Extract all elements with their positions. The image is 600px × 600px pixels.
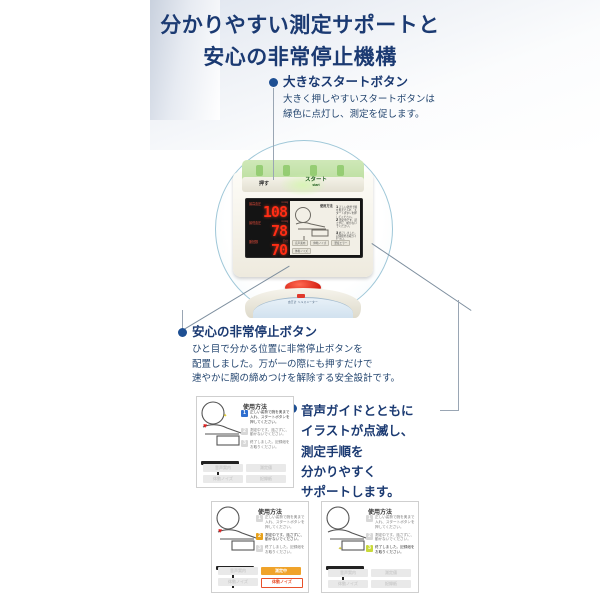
panel-step: 1 正しい姿勢で腕を奥まで入れ、スタートボタンを押してください。 <box>366 515 416 530</box>
step-text: 終了しました。記録紙をお取りください。 <box>375 545 416 555</box>
step-badge: 3 <box>366 545 373 552</box>
lcd-step-2: 2 測定中です。話さずに、動かないでください。 <box>336 217 358 229</box>
panel-chips: 音声案内 測定値 体動ノイズ 記録紙 <box>203 464 289 483</box>
panel-step: 3 終了しました。記録紙をお取りください。 <box>366 545 416 555</box>
step-badge: 2 <box>241 428 248 435</box>
panel-chip: 音声案内 <box>328 569 368 577</box>
panel-chip: 体動ノイズ <box>328 580 368 588</box>
reading-label: 最高血圧 <box>249 201 261 206</box>
lcd-chip: 体動ノイズ <box>292 248 311 254</box>
lcd-status-chips: 音声案内 体動ノイズ 濃度エラー 体動ノイズ <box>292 240 360 254</box>
lcd-chip: 濃度エラー <box>331 240 350 246</box>
callout-dot-emergency-stop <box>178 328 187 337</box>
panel-step: 3 終了しました。記録紙をお取りください。 <box>241 440 291 450</box>
callout-body-line: 音声ガイドとともに <box>301 401 511 421</box>
start-button[interactable]: スタート start <box>305 178 327 187</box>
panel-chip: 音声案内 <box>218 567 258 575</box>
panel-chips: 音声案内 測定中 体動ノイズ 体動ノイズ <box>218 567 304 588</box>
panel-step: 1 正しい姿勢で腕を奥まで入れ、スタートボタンを押してください。 <box>241 410 291 425</box>
panel-step: 2 測定中です。話さずに、動かないでください。 <box>241 428 291 438</box>
step-text: 測定中です。話さずに、動かないでください。 <box>336 219 357 228</box>
step-badge: 1 <box>241 410 248 417</box>
lcd-readings: 最高血圧 mmHg 108 最低血圧 mmHg 78 脈拍数 回/分 70 <box>246 199 290 257</box>
panel-chip: 体動ノイズ <box>261 578 303 588</box>
step-text: 正しい姿勢で腕を奥まで入れ、スタートボタンを押してください。 <box>265 515 306 530</box>
panel-steps: 1 正しい姿勢で腕を奥まで入れ、スタートボタンを押してください。 2 測定中です… <box>366 515 416 558</box>
callout-body-line: 配置しました。万が一の際にも押すだけで <box>192 358 522 373</box>
panel-step: 2 測定中です。話さずに、動かないでください。 <box>366 533 416 543</box>
step-text: 測定中です。話さずに、動かないでください。 <box>250 428 291 438</box>
step-text: 終了しました。記録紙をお取りください。 <box>265 545 306 555</box>
callout-body-line: 緑色に点灯し、測定を促します。 <box>283 108 533 123</box>
blood-pressure-monitor: 押す スタート start 最高血圧 mmHg 108 最低血圧 mmHg 78… <box>233 160 373 290</box>
pulse-value: 70 <box>249 243 287 258</box>
callout-dot-start-button <box>269 78 278 87</box>
step-text: 終了しました。記録紙をお取りください。 <box>250 440 291 450</box>
indicator-lamp-icon <box>283 165 290 176</box>
sparkle-icon: ✦ <box>338 546 342 552</box>
panel-chip: 測定中 <box>261 567 301 575</box>
panel-steps: 1 正しい姿勢で腕を奥まで入れ、スタートボタンを押してください。 2 測定中です… <box>241 410 291 453</box>
press-label: 押す <box>259 180 269 187</box>
callout-body-line: 測定手順を <box>301 442 511 462</box>
panel-step: 2 測定中です。話さずに、動かないでください。 <box>256 533 306 543</box>
step-badge: 1 <box>256 515 263 522</box>
panel-chip: 体動ノイズ <box>218 578 258 586</box>
step-badge: 3 <box>241 440 248 447</box>
reading-label: 最低血圧 <box>249 220 261 225</box>
callout-connector-line-voice <box>371 243 471 311</box>
panel-chip: 記録紙 <box>371 580 411 588</box>
panel-chip: 体動ノイズ <box>203 475 243 483</box>
page-title: 分かりやすい測定サポートと 安心の非常停止機構 <box>0 10 600 73</box>
callout-body-line: サポートします。 <box>301 482 511 502</box>
callout-body-line: ひと目で分かる位置に非常停止ボタンを <box>192 343 522 358</box>
start-button-label-en: start <box>305 184 327 188</box>
page-title-line2: 安心の非常停止機構 <box>0 42 600 74</box>
panel-chip: 記録紙 <box>246 475 286 483</box>
lcd-chip: 体動ノイズ <box>310 240 329 246</box>
lcd-guide-area: 使用方法 1 正しい姿勢で腕を奥まで入れ、スタートボタンを押してください。 <box>290 201 360 255</box>
page-title-line1: 分かりやすい測定サポートと <box>160 14 440 37</box>
callout-body: 大きく押しやすいスタートボタンは 緑色に点灯し、測定を促します。 <box>283 93 533 122</box>
panel-step: 1 正しい姿勢で腕を奥まで入れ、スタートボタンを押してください。 <box>256 515 306 530</box>
callout-body-line: 分かりやすく <box>301 462 511 482</box>
poster-canvas: 分かりやすい測定サポートと 安心の非常停止機構 押す スタート start 最高… <box>0 0 600 600</box>
callout-title: 音声ガイドとともに イラストが点滅し、 測定手順を 分かりやすく サポートします… <box>301 401 511 502</box>
panel-person-illustration <box>324 505 368 560</box>
lcd-chip: 音声案内 <box>292 240 308 246</box>
sparkle-icon: ✦ <box>223 413 227 419</box>
instruction-panel-step1[interactable]: 使用方法 ♥ ✦ 1 正しい姿勢で腕を奥まで入れ、スタートボタンを押してください… <box>196 396 294 488</box>
diastolic-value: 78 <box>249 224 287 239</box>
step-badge: 2 <box>256 533 263 540</box>
callout-emergency-stop: 安心の非常停止ボタン ひと目で分かる位置に非常停止ボタンを 配置しました。万が一… <box>192 324 522 387</box>
callout-body-line: 大きく押しやすいスタートボタンは <box>283 93 533 108</box>
step-text: 測定中です。話さずに、動かないでください。 <box>265 533 306 543</box>
callout-voice-guide: 音声ガイドとともに イラストが点滅し、 測定手順を 分かりやすく サポートします… <box>301 401 511 502</box>
person-figure-icon <box>292 206 334 240</box>
seated-person-illustration <box>292 206 334 240</box>
callout-body-line: 速やかに腕の締めつけを解除する安全設計です。 <box>192 372 522 387</box>
heart-icon: ♥ <box>218 528 225 535</box>
callout-body: ひと目で分かる位置に非常停止ボタンを 配置しました。万が一の際にも押すだけで 速… <box>192 343 522 387</box>
device-base-label: 血圧計 ヘルスメーター <box>245 300 361 304</box>
indicator-lamp-icon <box>256 165 263 176</box>
step-badge: 3 <box>256 545 263 552</box>
panel-steps: 1 正しい姿勢で腕を奥まで入れ、スタートボタンを押してください。 2 測定中です… <box>256 515 306 558</box>
device-lcd-screen: 最高血圧 mmHg 108 最低血圧 mmHg 78 脈拍数 回/分 70 使用… <box>245 198 363 258</box>
instruction-panel-step3[interactable]: 使用方法 ✦ 1 正しい姿勢で腕を奥まで入れ、スタートボタンを押してください。 … <box>321 501 419 593</box>
panel-chip: 測定値 <box>246 464 286 472</box>
indicator-lamp-icon <box>337 165 344 176</box>
instruction-panel-step2[interactable]: 使用方法 ♥ 1 正しい姿勢で腕を奥まで入れ、スタートボタンを押してください。 … <box>211 501 309 593</box>
panel-chips: 音声案内 測定値 体動ノイズ 記録紙 <box>328 569 414 588</box>
reading-label: 脈拍数 <box>249 239 258 244</box>
callout-title: 安心の非常停止ボタン <box>192 324 522 341</box>
systolic-value: 108 <box>249 205 287 220</box>
device-base: 血圧計 ヘルスメーター <box>245 288 361 318</box>
callout-title: 大きなスタートボタン <box>283 74 533 91</box>
panel-chip: 測定値 <box>371 569 411 577</box>
heart-icon: ♥ <box>203 423 210 430</box>
panel-chip: 音声案内 <box>203 464 243 472</box>
step-badge: 2 <box>366 533 373 540</box>
callout-start-button: 大きなスタートボタン 大きく押しやすいスタートボタンは 緑色に点灯し、測定を促し… <box>283 74 533 122</box>
step-text: 正しい姿勢で腕を奥まで入れ、スタートボタンを押してください。 <box>250 410 291 425</box>
panel-step: 3 終了しました。記録紙をお取りください。 <box>256 545 306 555</box>
step-text: 正しい姿勢で腕を奥まで入れ、スタートボタンを押してください。 <box>375 515 416 530</box>
step-text: 測定中です。話さずに、動かないでください。 <box>375 533 416 543</box>
step-badge: 1 <box>366 515 373 522</box>
callout-connector-line-start <box>273 88 274 180</box>
base-red-marker <box>297 294 305 298</box>
person-figure-icon <box>324 505 368 560</box>
callout-body-line: イラストが点滅し、 <box>301 421 511 441</box>
